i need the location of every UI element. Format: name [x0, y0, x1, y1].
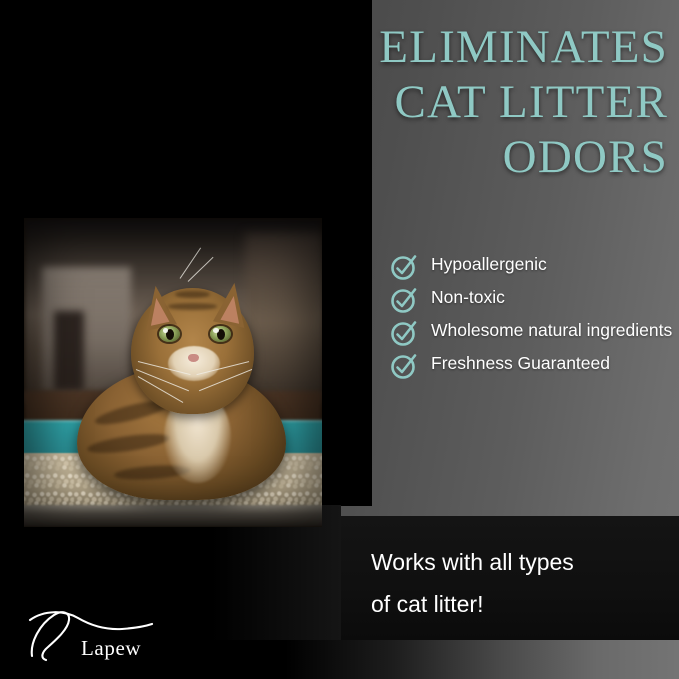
check-circle-icon	[389, 351, 419, 381]
list-item-label: Freshness Guaranteed	[431, 350, 610, 377]
logo-wordmark: Lapew	[81, 636, 141, 661]
list-item-label: Wholesome natural ingredients	[431, 317, 672, 344]
callout-text: Works with all types of cat litter!	[371, 541, 661, 625]
callout-line-2: of cat litter!	[371, 583, 661, 625]
callout-line-1: Works with all types	[371, 541, 661, 583]
list-item: Hypoallergenic	[389, 251, 679, 281]
photo-vignette	[24, 218, 322, 527]
list-item-label: Hypoallergenic	[431, 251, 547, 278]
kitten-photo	[24, 218, 322, 527]
headline-line-3: ODORS	[248, 130, 668, 185]
callout-box: Works with all types of cat litter!	[341, 516, 679, 640]
ad-canvas: ELIMINATES CAT LITTER ODORS	[0, 0, 679, 679]
check-circle-icon	[389, 252, 419, 282]
list-item: Wholesome natural ingredients	[389, 317, 679, 347]
list-item: Freshness Guaranteed	[389, 350, 679, 380]
list-item: Non-toxic	[389, 284, 679, 314]
headline-line-2: CAT LITTER	[248, 75, 668, 130]
list-item-label: Non-toxic	[431, 284, 505, 311]
check-circle-icon	[389, 285, 419, 315]
check-circle-icon	[389, 318, 419, 348]
headline: ELIMINATES CAT LITTER ODORS	[248, 20, 668, 185]
headline-line-1: ELIMINATES	[248, 20, 668, 75]
benefits-list: Hypoallergenic Non-toxic Wholesome natur…	[389, 251, 679, 383]
brand-logo: Lapew	[26, 608, 186, 664]
